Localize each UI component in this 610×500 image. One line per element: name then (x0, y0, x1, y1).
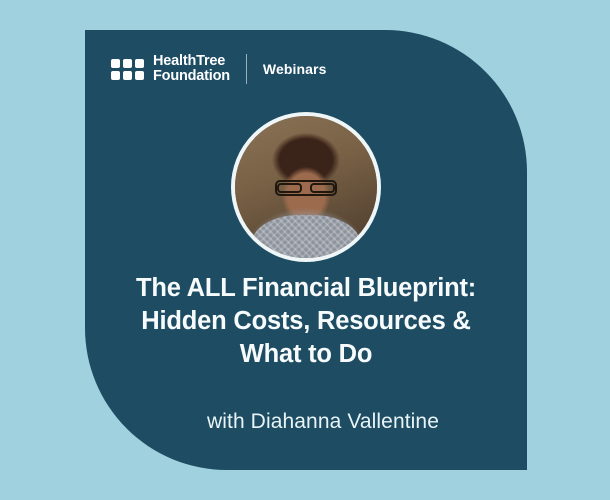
vertical-divider-icon (246, 54, 247, 84)
avatar-photo (235, 116, 377, 258)
avatar-glasses (275, 180, 337, 196)
grid-squares-icon (111, 59, 144, 80)
webinar-card: HealthTree Foundation Webinars The ALL F… (85, 30, 527, 470)
brand-lockup: HealthTree Foundation Webinars (111, 52, 326, 86)
page-title: The ALL Financial Blueprint: Hidden Cost… (107, 272, 505, 371)
logo-square (111, 59, 120, 68)
logo-square (123, 59, 132, 68)
logo-square (135, 59, 144, 68)
avatar (231, 112, 381, 262)
logo-square (111, 71, 120, 80)
webinar-promo-canvas: HealthTree Foundation Webinars The ALL F… (0, 0, 610, 500)
logo-square (123, 71, 132, 80)
logo-square (135, 71, 144, 80)
brand-wordmark: HealthTree Foundation (153, 54, 230, 84)
brand-section-label: Webinars (263, 61, 327, 77)
speaker-byline: with Diahanna Vallentine (145, 408, 501, 436)
avatar-shirt (252, 215, 360, 262)
